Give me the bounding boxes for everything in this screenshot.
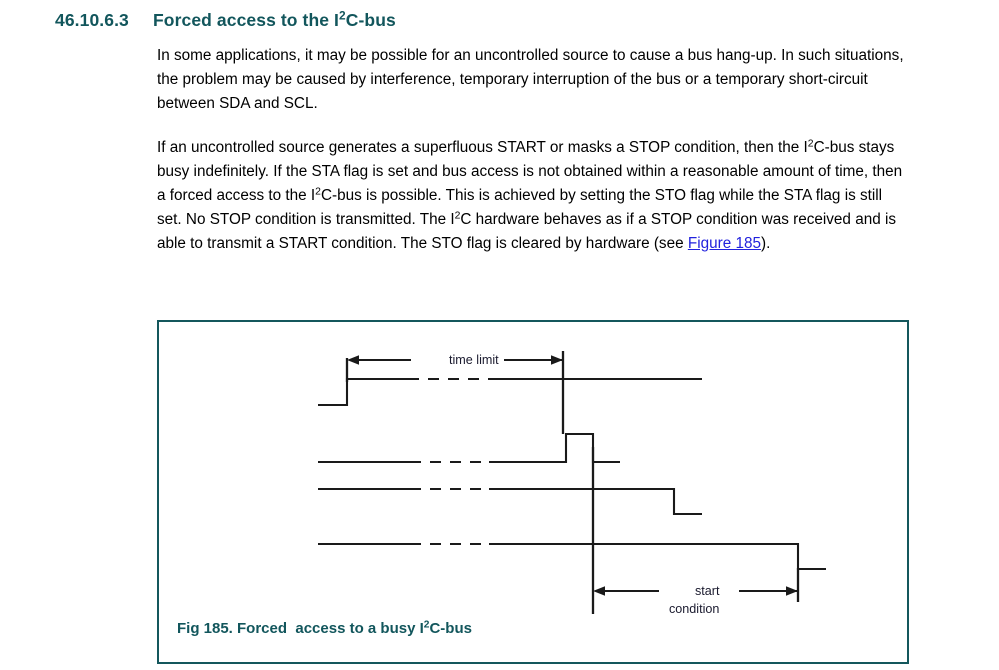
- paragraph-2-text-e: ).: [761, 235, 770, 252]
- body-paragraph-1: In some applications, it may be possible…: [157, 44, 909, 116]
- figure-caption: Fig 185. Forced access to a busy I2C-bus: [177, 620, 472, 654]
- time-limit-right-arrowhead: [551, 355, 563, 365]
- start-condition-label-line-1: start: [695, 584, 720, 598]
- timing-diagram: STA flag STO flag SDA line SCL line time…: [159, 322, 907, 662]
- section-title-superscript: 2: [339, 8, 346, 22]
- paragraph-1-text: In some applications, it may be possible…: [157, 47, 904, 112]
- time-limit-left-arrowhead: [347, 355, 359, 365]
- time-limit-label: time limit: [449, 353, 499, 367]
- body-paragraph-2: If an uncontrolled source generates a su…: [157, 136, 909, 256]
- figure-caption-part-2: C-bus: [429, 620, 472, 637]
- paragraph-2-text-a: If an uncontrolled source generates a su…: [157, 139, 808, 156]
- section-title-part-1: Forced access to the I: [153, 10, 339, 30]
- figure-185-link[interactable]: Figure 185: [688, 235, 761, 252]
- section-number: 46.10.6.3: [55, 10, 153, 31]
- page-title: 46.10.6.3Forced access to the I2C-bus: [55, 10, 935, 31]
- figure-container: STA flag STO flag SDA line SCL line time…: [157, 320, 909, 664]
- section-title-part-2: C-bus: [346, 10, 396, 30]
- start-condition-right-arrowhead: [786, 586, 798, 596]
- figure-caption-part-1: Fig 185. Forced access to a busy I: [177, 620, 424, 637]
- start-condition-label-line-2: condition: [669, 602, 719, 616]
